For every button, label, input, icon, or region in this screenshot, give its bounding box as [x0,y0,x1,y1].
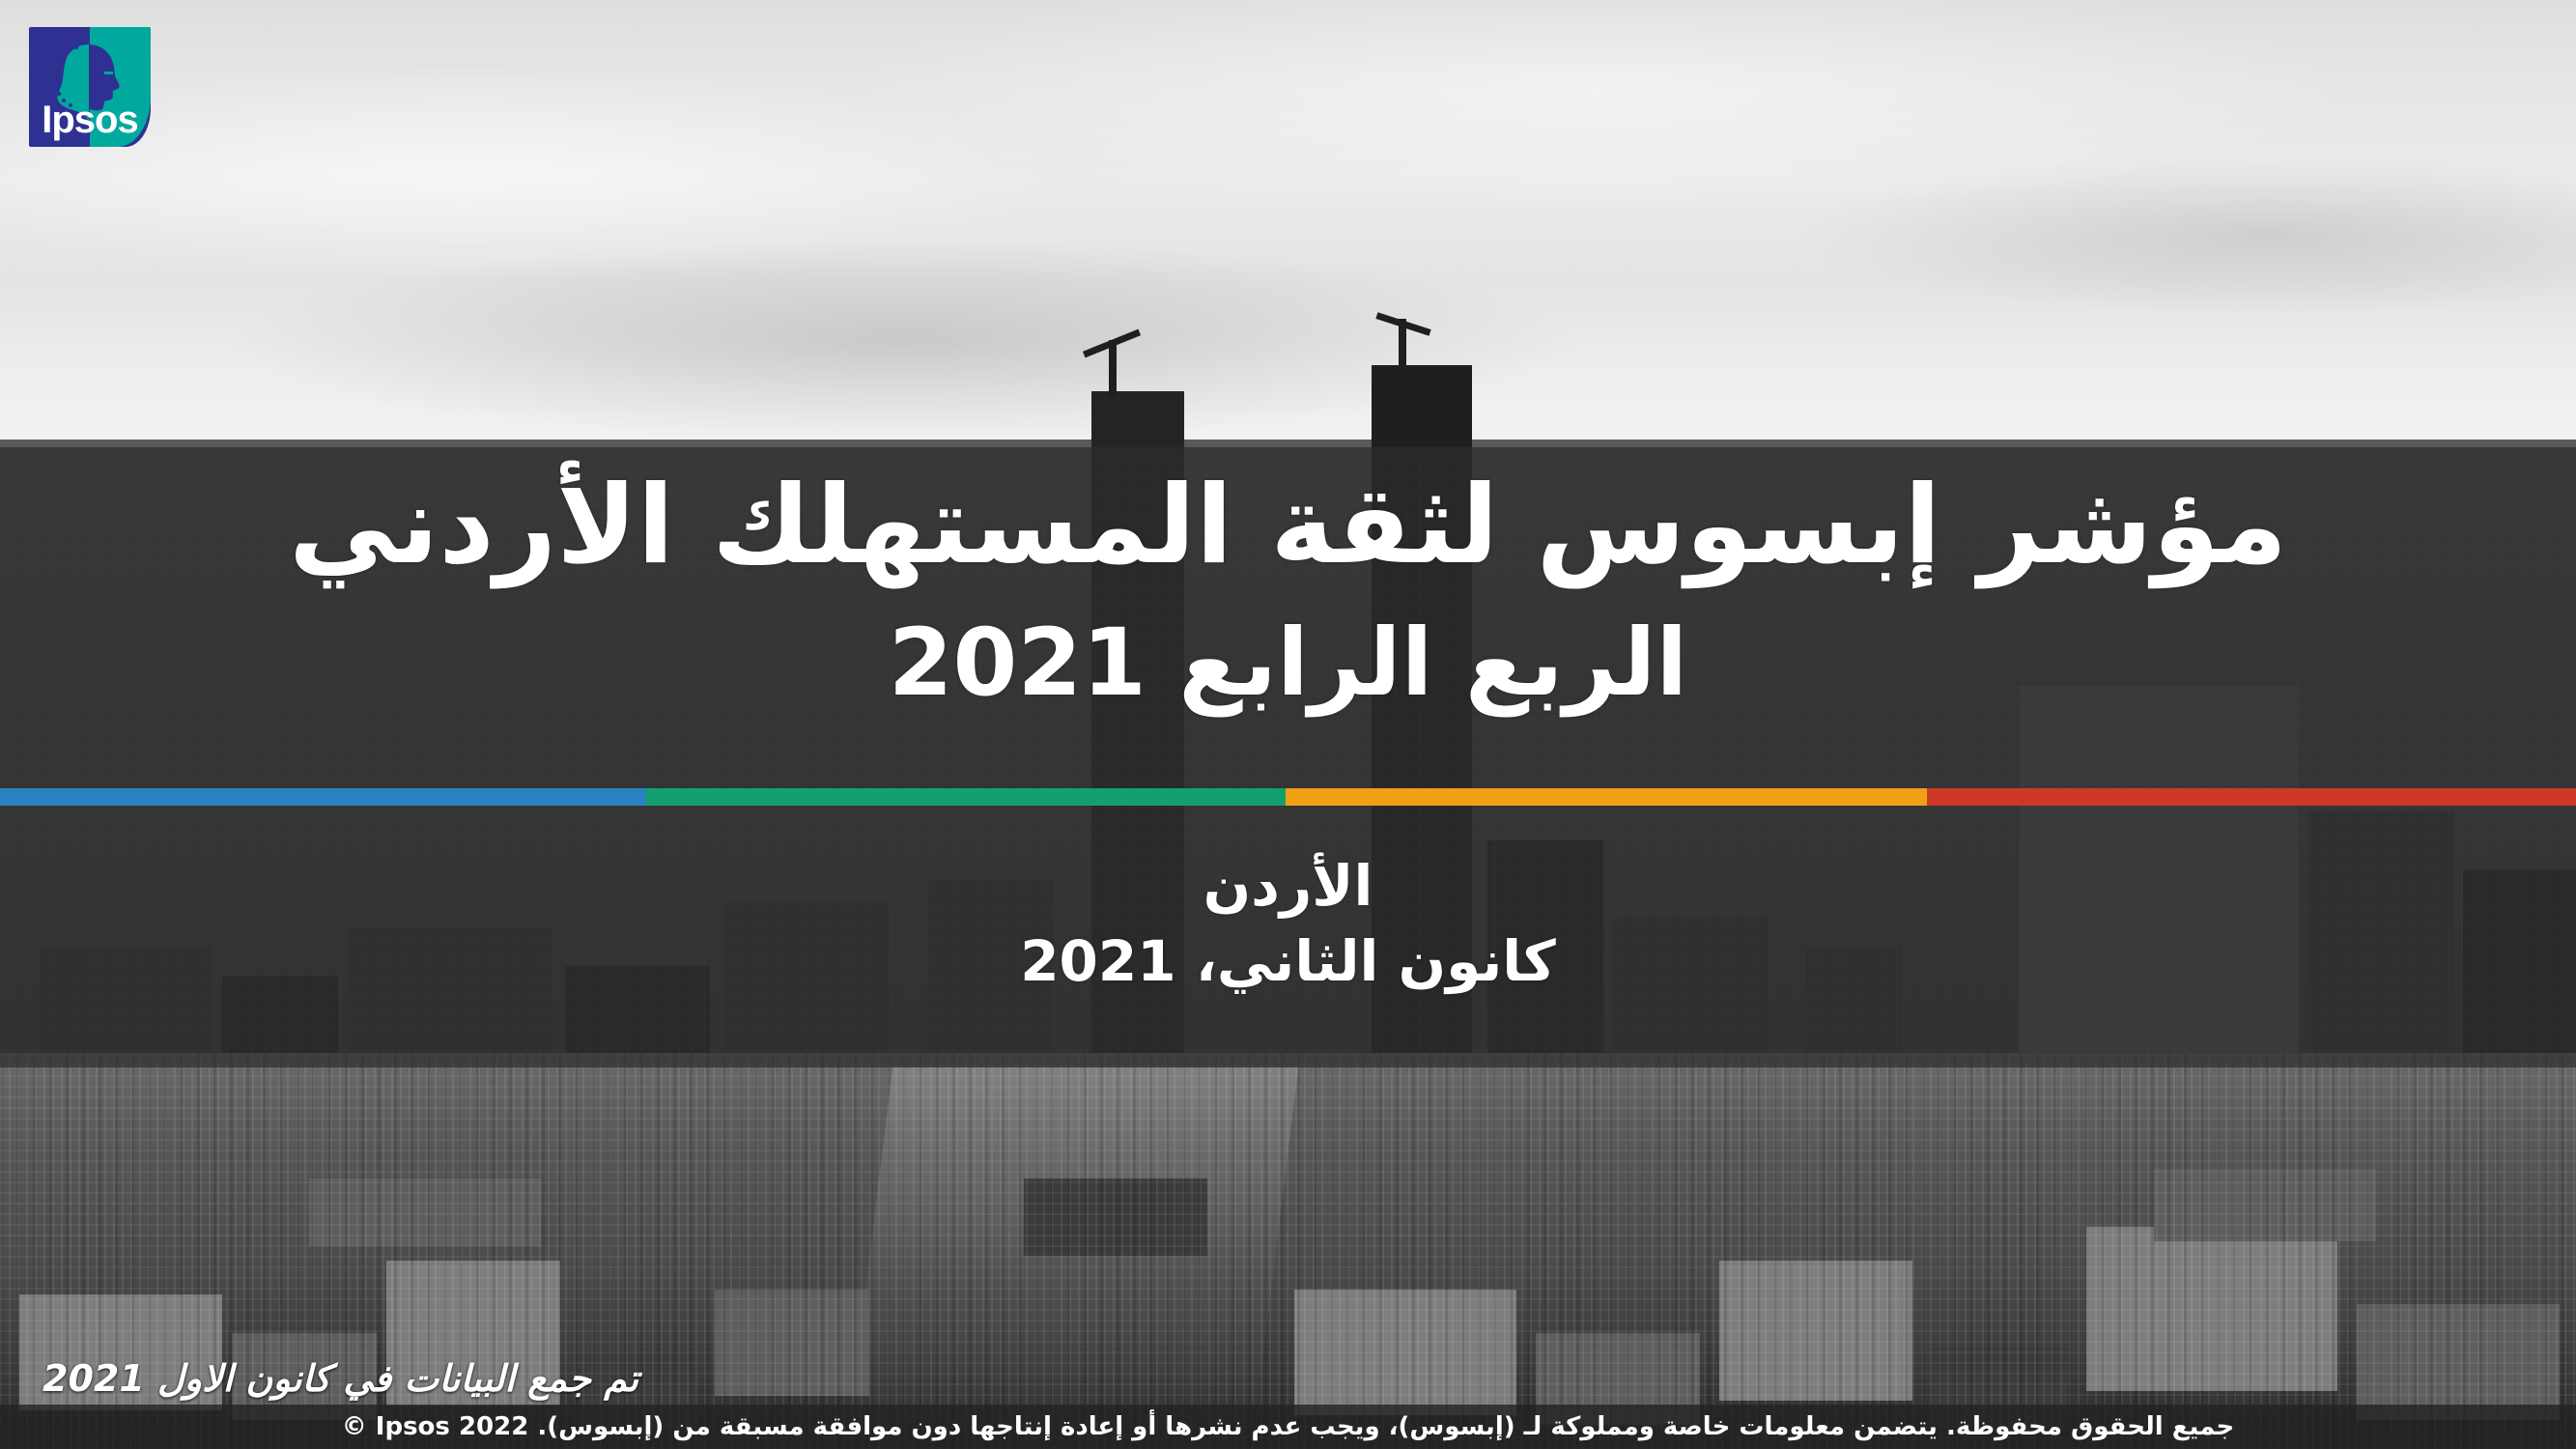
copyright-text: جميع الحقوق محفوظة. يتضمن معلومات خاصة و… [342,1412,2235,1441]
title-block: مؤشر إبسوس لثقة المستهلك الأردني الربع ا… [0,464,2576,717]
sky-region [0,0,2576,454]
ipsos-wordmark: Ipsos [29,100,151,139]
page-subtitle-quarter: الربع الرابع 2021 [0,587,2576,717]
country-label: الأردن [0,848,2576,923]
brand-color-rule [0,788,2576,806]
subtitle-block: الأردن كانون الثاني، 2021 [0,848,2576,999]
page-title: مؤشر إبسوس لثقة المستهلك الأردني [0,464,2576,587]
color-segment-red [1927,788,2576,806]
presentation-slide: Ipsos مؤشر إبسوس لثقة المستهلك الأردني ا… [0,0,2576,1449]
color-segment-blue [0,788,646,806]
data-collection-note: تم جمع البيانات في كانون الاول 2021 [42,1356,638,1401]
color-segment-orange [1286,788,1927,806]
color-segment-green [646,788,1285,806]
period-label: كانون الثاني، 2021 [0,923,2576,999]
ipsos-logo: Ipsos [29,27,151,147]
copyright-strip: جميع الحقوق محفوظة. يتضمن معلومات خاصة و… [0,1405,2576,1449]
